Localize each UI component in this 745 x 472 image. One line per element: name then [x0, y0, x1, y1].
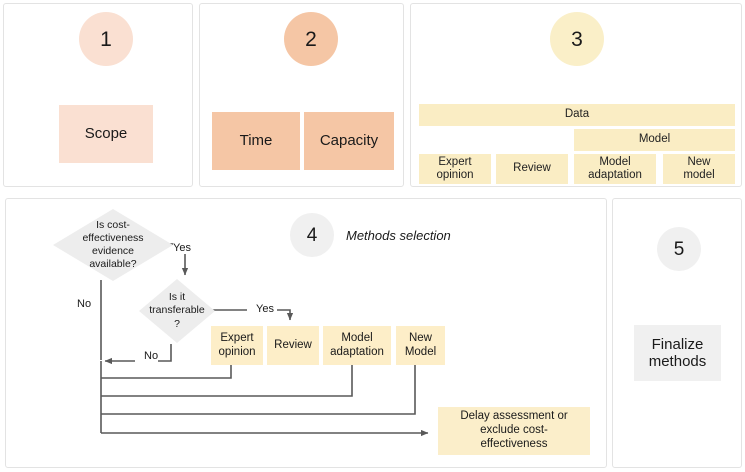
box-time: Time	[212, 112, 300, 170]
panel-evidence-types: 3 Data Model Expert opinion Review Model…	[410, 3, 742, 187]
box-scope: Scope	[59, 105, 153, 163]
panel-title-methods-selection: Methods selection	[346, 228, 451, 243]
panel-resources: 2 Time Capacity	[199, 3, 404, 187]
edge-label-no-2: No	[144, 351, 158, 362]
flow-box-review: Review	[267, 326, 319, 365]
edge-label-yes-2: Yes	[256, 304, 274, 315]
bar-data: Data	[419, 104, 735, 126]
bar-model: Model	[574, 129, 735, 151]
bar-new-model: New model	[663, 154, 735, 184]
decision-is-transferable: Is it transferable ?	[139, 279, 215, 343]
step-number-5: 5	[657, 227, 701, 271]
step-number-1: 1	[79, 12, 133, 66]
decision-label: Is it transferable ?	[139, 279, 215, 343]
decision-evidence-available: Is cost- effectiveness evidence availabl…	[53, 209, 173, 281]
bar-expert-opinion: Expert opinion	[419, 154, 491, 184]
box-finalize-methods: Finalize methods	[634, 325, 721, 381]
step-number-2: 2	[284, 12, 338, 66]
panel-methods-selection: 4 Methods selection Is cost- effectivene…	[5, 198, 607, 468]
step-number-3: 3	[550, 12, 604, 66]
panel-finalize: 5 Finalize methods	[612, 198, 742, 468]
panel-scope: 1 Scope	[3, 3, 193, 187]
flow-box-model-adaptation: Model adaptation	[323, 326, 391, 365]
bar-model-adaptation: Model adaptation	[574, 154, 656, 184]
flow-box-expert-opinion: Expert opinion	[211, 326, 263, 365]
step-number-4: 4	[290, 213, 334, 257]
bar-review: Review	[496, 154, 568, 184]
edge-label-yes-1: Yes	[173, 243, 191, 254]
decision-label: Is cost- effectiveness evidence availabl…	[53, 209, 173, 281]
flow-box-new-model: New Model	[396, 326, 445, 365]
diagram-root: 1 Scope 2 Time Capacity 3 Data Model Exp…	[0, 0, 745, 472]
edge-label-no-1: No	[77, 299, 91, 310]
box-capacity: Capacity	[304, 112, 394, 170]
flow-box-delay-assessment: Delay assessment or exclude cost- effect…	[438, 407, 590, 455]
